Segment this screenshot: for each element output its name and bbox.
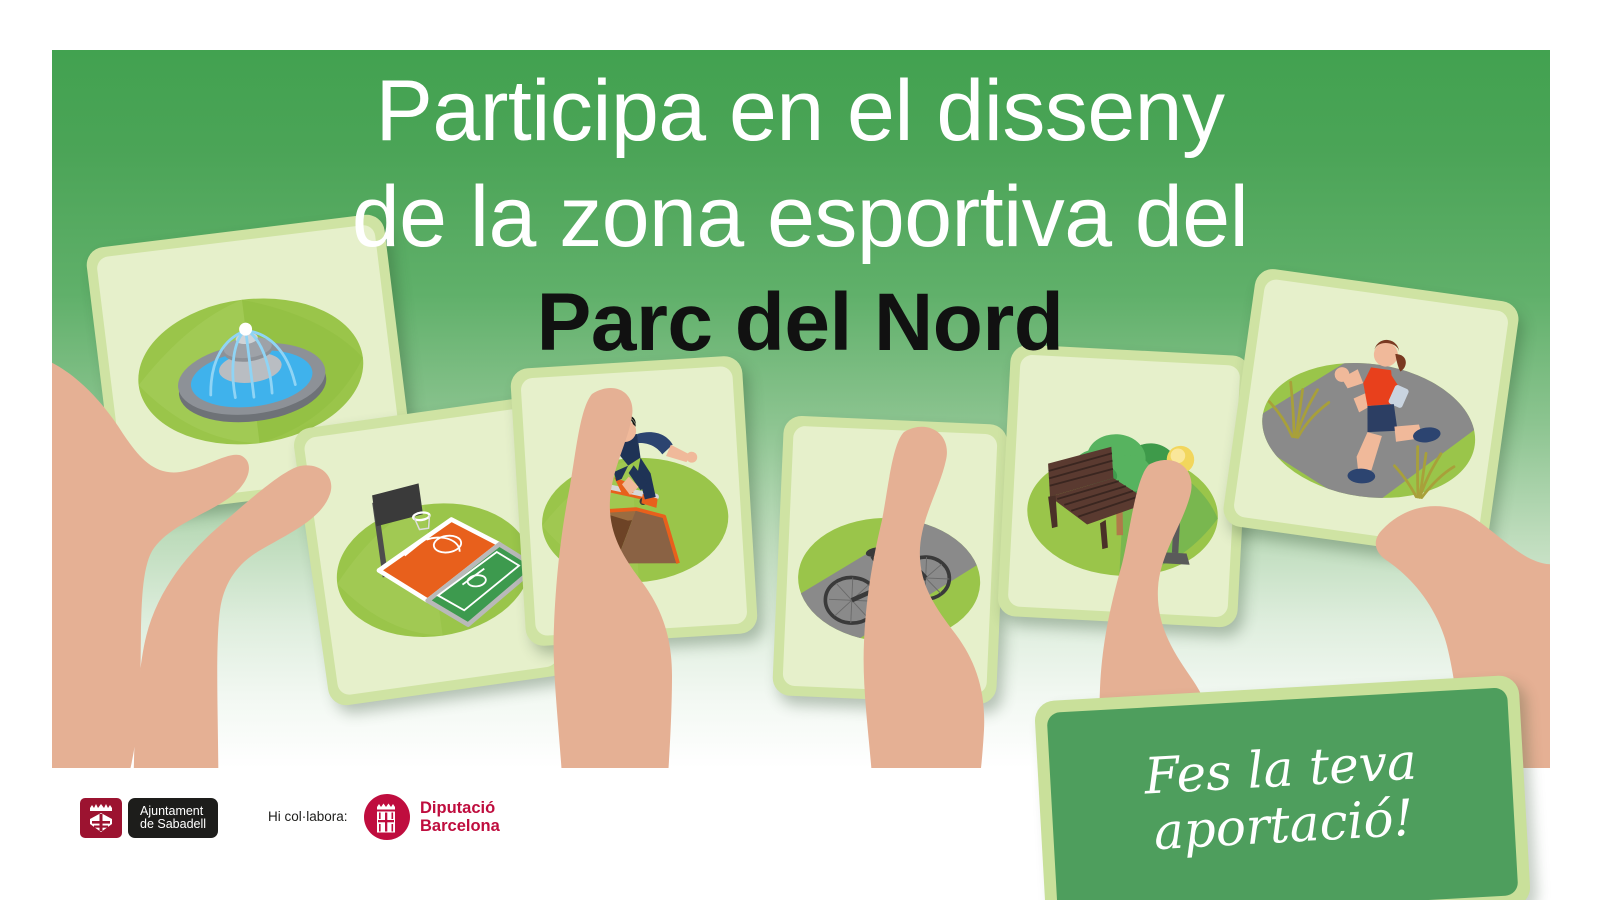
sabadell-crest-icon xyxy=(80,798,122,838)
diputacio-line-1: Diputació xyxy=(420,799,500,817)
footer-logos: Ajuntament de Sabadell Hi col·labora: xyxy=(0,768,1600,900)
hand-left-inner xyxy=(114,460,344,768)
logo-diputacio-barcelona[interactable]: Diputació Barcelona xyxy=(364,794,500,840)
hand-middle-left xyxy=(532,376,732,768)
hand-icon xyxy=(842,416,1042,768)
poster-canvas: Participa en el disseny de la zona espor… xyxy=(0,0,1600,900)
hand-icon xyxy=(532,376,732,768)
poster-background-panel xyxy=(52,50,1550,768)
collaboration-label: Hi col·labora: xyxy=(268,809,348,824)
diputacio-line-2: Barcelona xyxy=(420,817,500,835)
diputacio-crest-icon xyxy=(364,794,410,840)
ajuntament-line-2: de Sabadell xyxy=(140,818,206,832)
diputacio-name: Diputació Barcelona xyxy=(420,799,500,835)
hand-middle-right xyxy=(842,416,1042,768)
logo-ajuntament-de-sabadell[interactable]: Ajuntament de Sabadell xyxy=(80,798,218,838)
ajuntament-name-plate: Ajuntament de Sabadell xyxy=(128,798,218,838)
ajuntament-line-1: Ajuntament xyxy=(140,805,206,819)
hand-icon xyxy=(114,460,344,768)
